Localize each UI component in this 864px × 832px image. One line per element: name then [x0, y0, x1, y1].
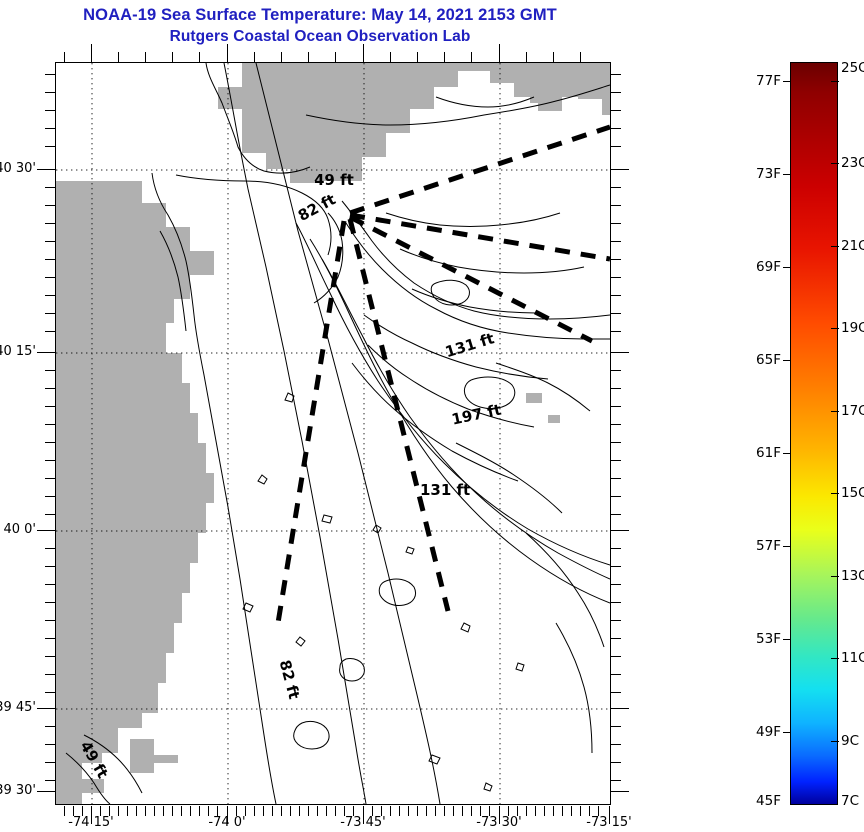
- cb-label-73F: 73F: [737, 166, 781, 182]
- cb-label-49F: 49F: [737, 724, 781, 740]
- cb-label-25C: 25C: [841, 60, 864, 76]
- cb-tick-f-49: [783, 732, 791, 733]
- right-tick: [611, 74, 621, 75]
- right-tick: [611, 110, 621, 111]
- right-tick: [611, 496, 621, 497]
- top-tick: [64, 52, 65, 62]
- x-axis-label-73-15: -73 15': [559, 815, 659, 830]
- colorbar-gradient: [790, 62, 838, 805]
- top-tick: [308, 52, 309, 62]
- mask-pixel-a: [526, 393, 542, 403]
- cb-label-77F: 77F: [737, 73, 781, 89]
- y-tick-minor: [45, 313, 55, 314]
- y-tick-major-39-45: [37, 708, 55, 709]
- x-axis-label-73-45: -73 45': [313, 815, 413, 830]
- cb-tick-f-77: [783, 81, 791, 82]
- y-tick-minor: [45, 146, 55, 147]
- x-tick-minor: [299, 806, 300, 816]
- sst-map-figure: NOAA-19 Sea Surface Temperature: May 14,…: [0, 0, 864, 832]
- mask-pixel-b: [548, 415, 560, 423]
- top-tick: [417, 52, 418, 62]
- top-tick: [91, 44, 92, 62]
- x-tick-minor: [417, 806, 418, 816]
- y-tick-minor: [45, 478, 55, 479]
- x-tick-minor: [172, 806, 173, 816]
- y-tick-minor: [45, 514, 55, 515]
- depth-label-49ft-north: 49 ft: [314, 171, 354, 189]
- top-tick: [254, 52, 255, 62]
- x-tick-minor: [281, 806, 282, 816]
- y-tick-major-40-15: [37, 352, 55, 353]
- x-tick-minor: [444, 806, 445, 816]
- cb-tick-f-65: [783, 360, 791, 361]
- y-tick-minor: [45, 259, 55, 260]
- right-tick: [611, 146, 621, 147]
- cb-label-23C: 23C: [841, 155, 864, 171]
- right-tick: [611, 460, 621, 461]
- top-tick: [526, 52, 527, 62]
- temperature-colorbar[interactable]: 77F 73F 69F 65F 61F 57F 53F 49F 45F 25C …: [790, 62, 838, 805]
- right-tick: [611, 128, 621, 129]
- y-axis-label-40-00: 40 0': [0, 522, 36, 537]
- right-tick-major: [611, 352, 629, 353]
- right-tick: [611, 187, 621, 188]
- cb-label-53F: 53F: [737, 631, 781, 647]
- right-tick: [611, 584, 621, 585]
- right-tick: [611, 295, 621, 296]
- y-tick-minor: [45, 602, 55, 603]
- top-tick: [172, 52, 173, 62]
- y-tick-major-39-30: [37, 791, 55, 792]
- right-tick: [611, 780, 621, 781]
- y-tick-major-40-00: [37, 530, 55, 531]
- cb-tick-c-19: [831, 328, 839, 329]
- right-tick: [611, 726, 621, 727]
- y-axis-label-39-30: 39 30': [0, 783, 36, 798]
- title-line-2: Rutgers Coastal Ocean Observation Lab: [0, 26, 640, 48]
- cb-tick-c-15: [831, 493, 839, 494]
- right-tick: [611, 313, 621, 314]
- top-tick: [499, 44, 500, 62]
- y-tick-minor: [45, 548, 55, 549]
- top-tick: [118, 52, 119, 62]
- y-tick-minor: [45, 566, 55, 567]
- cb-label-19C: 19C: [841, 320, 864, 336]
- top-tick: [444, 52, 445, 62]
- y-tick-minor: [45, 241, 55, 242]
- y-tick-minor: [45, 638, 55, 639]
- top-tick: [227, 44, 228, 62]
- right-tick-major: [611, 530, 629, 531]
- figure-title: NOAA-19 Sea Surface Temperature: May 14,…: [0, 4, 640, 48]
- y-tick-minor: [45, 780, 55, 781]
- cb-tick-c-23: [831, 163, 839, 164]
- x-axis-label-74-15: -74 15': [41, 815, 141, 830]
- right-tick-major: [611, 708, 629, 709]
- y-tick-minor: [45, 424, 55, 425]
- y-tick-minor: [45, 442, 55, 443]
- right-tick: [611, 744, 621, 745]
- right-tick-major: [611, 791, 629, 792]
- cb-label-69F: 69F: [737, 259, 781, 275]
- right-tick: [611, 259, 621, 260]
- right-tick-major: [611, 169, 629, 170]
- top-tick: [363, 44, 364, 62]
- x-tick-minor: [163, 806, 164, 816]
- y-tick-minor: [45, 406, 55, 407]
- cb-label-17C: 17C: [841, 403, 864, 419]
- y-tick-minor: [45, 277, 55, 278]
- y-tick-minor: [45, 370, 55, 371]
- y-tick-minor: [45, 388, 55, 389]
- y-tick-minor: [45, 110, 55, 111]
- cb-label-45F: 45F: [737, 793, 781, 809]
- y-tick-minor: [45, 726, 55, 727]
- x-tick-minor: [308, 806, 309, 816]
- cb-tick-c-11: [831, 658, 839, 659]
- cb-label-7C: 7C: [841, 793, 864, 809]
- cb-tick-f-57: [783, 546, 791, 547]
- right-tick: [611, 241, 621, 242]
- top-tick: [281, 52, 282, 62]
- cb-tick-c-9: [831, 741, 839, 742]
- right-tick: [611, 442, 621, 443]
- y-tick-minor: [45, 460, 55, 461]
- right-tick: [611, 762, 621, 763]
- y-axis-label-40-15: 40 15': [0, 344, 36, 359]
- right-tick: [611, 674, 621, 675]
- right-tick: [611, 692, 621, 693]
- top-tick: [580, 52, 581, 62]
- right-tick: [611, 638, 621, 639]
- x-axis-label-74-00: -74 0': [177, 815, 277, 830]
- top-tick: [471, 52, 472, 62]
- cb-label-61F: 61F: [737, 445, 781, 461]
- cb-label-57F: 57F: [737, 538, 781, 554]
- y-tick-minor: [45, 656, 55, 657]
- top-tick: [145, 52, 146, 62]
- y-axis-label-40-30: 40 30': [0, 161, 36, 176]
- y-tick-minor: [45, 762, 55, 763]
- right-tick: [611, 223, 621, 224]
- x-tick-minor: [145, 806, 146, 816]
- top-tick: [335, 52, 336, 62]
- y-tick-minor: [45, 331, 55, 332]
- cb-tick-f-73: [783, 174, 791, 175]
- right-tick: [611, 205, 621, 206]
- cb-tick-f-53: [783, 639, 791, 640]
- top-tick: [199, 52, 200, 62]
- cb-tick-f-61: [783, 453, 791, 454]
- top-tick: [553, 52, 554, 62]
- title-line-1: NOAA-19 Sea Surface Temperature: May 14,…: [0, 4, 640, 26]
- cb-label-65F: 65F: [737, 352, 781, 368]
- y-tick-minor: [45, 128, 55, 129]
- y-tick-minor: [45, 692, 55, 693]
- y-tick-minor: [45, 187, 55, 188]
- right-tick: [611, 406, 621, 407]
- cb-tick-c-13: [831, 576, 839, 577]
- y-tick-minor: [45, 205, 55, 206]
- y-tick-minor: [45, 674, 55, 675]
- right-tick: [611, 478, 621, 479]
- y-tick-minor: [45, 295, 55, 296]
- right-tick: [611, 548, 621, 549]
- cb-label-13C: 13C: [841, 568, 864, 584]
- y-tick-minor: [45, 223, 55, 224]
- cb-tick-c-21: [831, 246, 839, 247]
- cb-label-21C: 21C: [841, 238, 864, 254]
- right-tick: [611, 92, 621, 93]
- top-tick: [390, 52, 391, 62]
- y-tick-minor: [45, 496, 55, 497]
- x-tick-minor: [154, 806, 155, 816]
- map-plot-area[interactable]: 49 ft 82 ft 131 ft 197 ft 131 ft 82 ft 4…: [55, 62, 611, 805]
- y-tick-minor: [45, 744, 55, 745]
- cb-tick-c-17: [831, 411, 839, 412]
- right-tick: [611, 424, 621, 425]
- right-tick: [611, 656, 621, 657]
- right-tick: [611, 388, 621, 389]
- x-tick-minor: [426, 806, 427, 816]
- y-tick-minor: [45, 584, 55, 585]
- right-tick: [611, 277, 621, 278]
- x-tick-minor: [290, 806, 291, 816]
- depth-label-131ft-south: 131 ft: [420, 481, 470, 499]
- right-tick: [611, 620, 621, 621]
- x-tick-minor: [553, 806, 554, 816]
- y-tick-minor: [45, 74, 55, 75]
- right-tick: [611, 566, 621, 567]
- cb-label-15C: 15C: [841, 485, 864, 501]
- right-tick: [611, 370, 621, 371]
- right-tick: [611, 331, 621, 332]
- y-tick-major-40-30: [37, 169, 55, 170]
- x-tick-minor: [435, 806, 436, 816]
- cb-label-9C: 9C: [841, 733, 864, 749]
- right-tick: [611, 602, 621, 603]
- cb-tick-f-69: [783, 267, 791, 268]
- y-axis-label-39-45: 39 45': [0, 700, 36, 715]
- right-tick: [611, 514, 621, 515]
- x-axis-label-73-30: -73 30': [449, 815, 549, 830]
- cb-tick-c-25: [831, 81, 839, 82]
- y-tick-minor: [45, 620, 55, 621]
- y-tick-minor: [45, 92, 55, 93]
- cb-label-11C: 11C: [841, 650, 864, 666]
